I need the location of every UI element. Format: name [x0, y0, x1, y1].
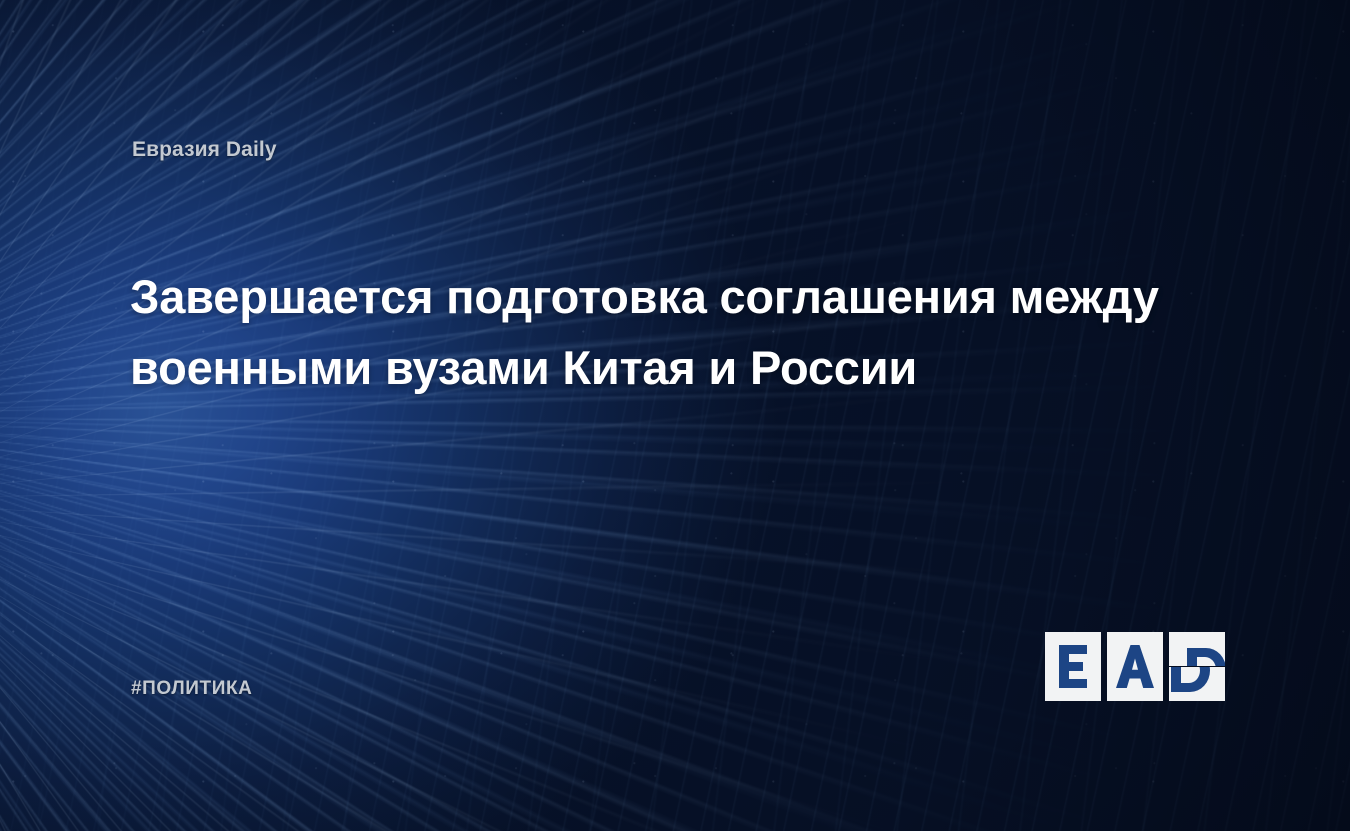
- logo-tile-a: [1107, 632, 1163, 701]
- brand-title: Евразия Daily: [132, 138, 277, 162]
- logo-tile-d-bottom: [1169, 667, 1225, 701]
- logo-tile-d-top: [1169, 632, 1225, 666]
- logo-tile-d-split: [1169, 632, 1225, 701]
- page-title: Завершается подготовка соглашения между …: [130, 262, 1190, 404]
- logo-tile-e: [1045, 632, 1101, 701]
- news-card: Евразия Daily Завершается подготовка сог…: [0, 0, 1350, 831]
- eadaily-logo[interactable]: [1045, 632, 1226, 701]
- card-content: Евразия Daily Завершается подготовка сог…: [0, 0, 1350, 831]
- category-hashtag[interactable]: #ПОЛИТИКА: [131, 678, 253, 700]
